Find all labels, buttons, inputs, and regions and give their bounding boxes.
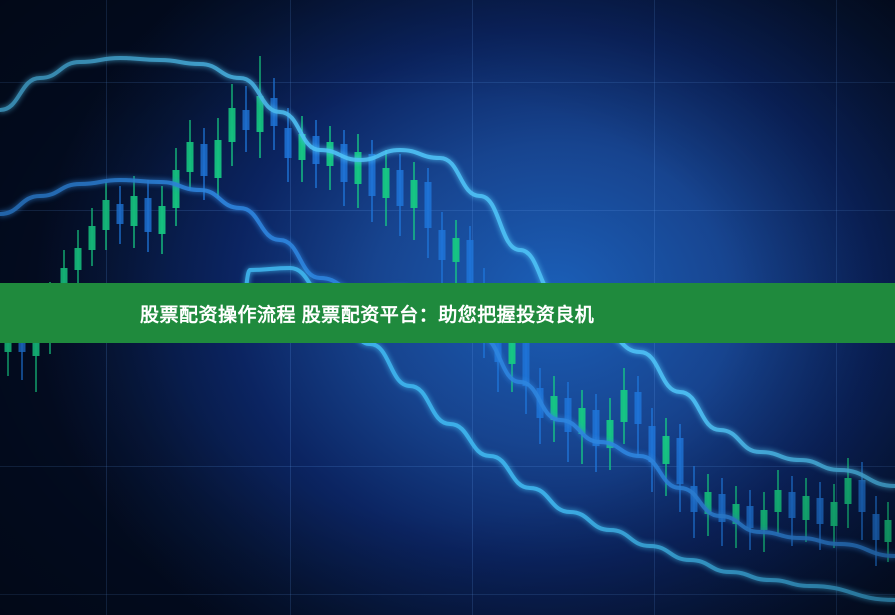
stock-chart-image: 股票配资操作流程 股票配资平台：助您把握投资良机 bbox=[0, 0, 895, 615]
banner-title-text: 股票配资操作流程 股票配资平台：助您把握投资良机 bbox=[140, 300, 594, 327]
title-banner: 股票配资操作流程 股票配资平台：助您把握投资良机 bbox=[0, 283, 895, 343]
